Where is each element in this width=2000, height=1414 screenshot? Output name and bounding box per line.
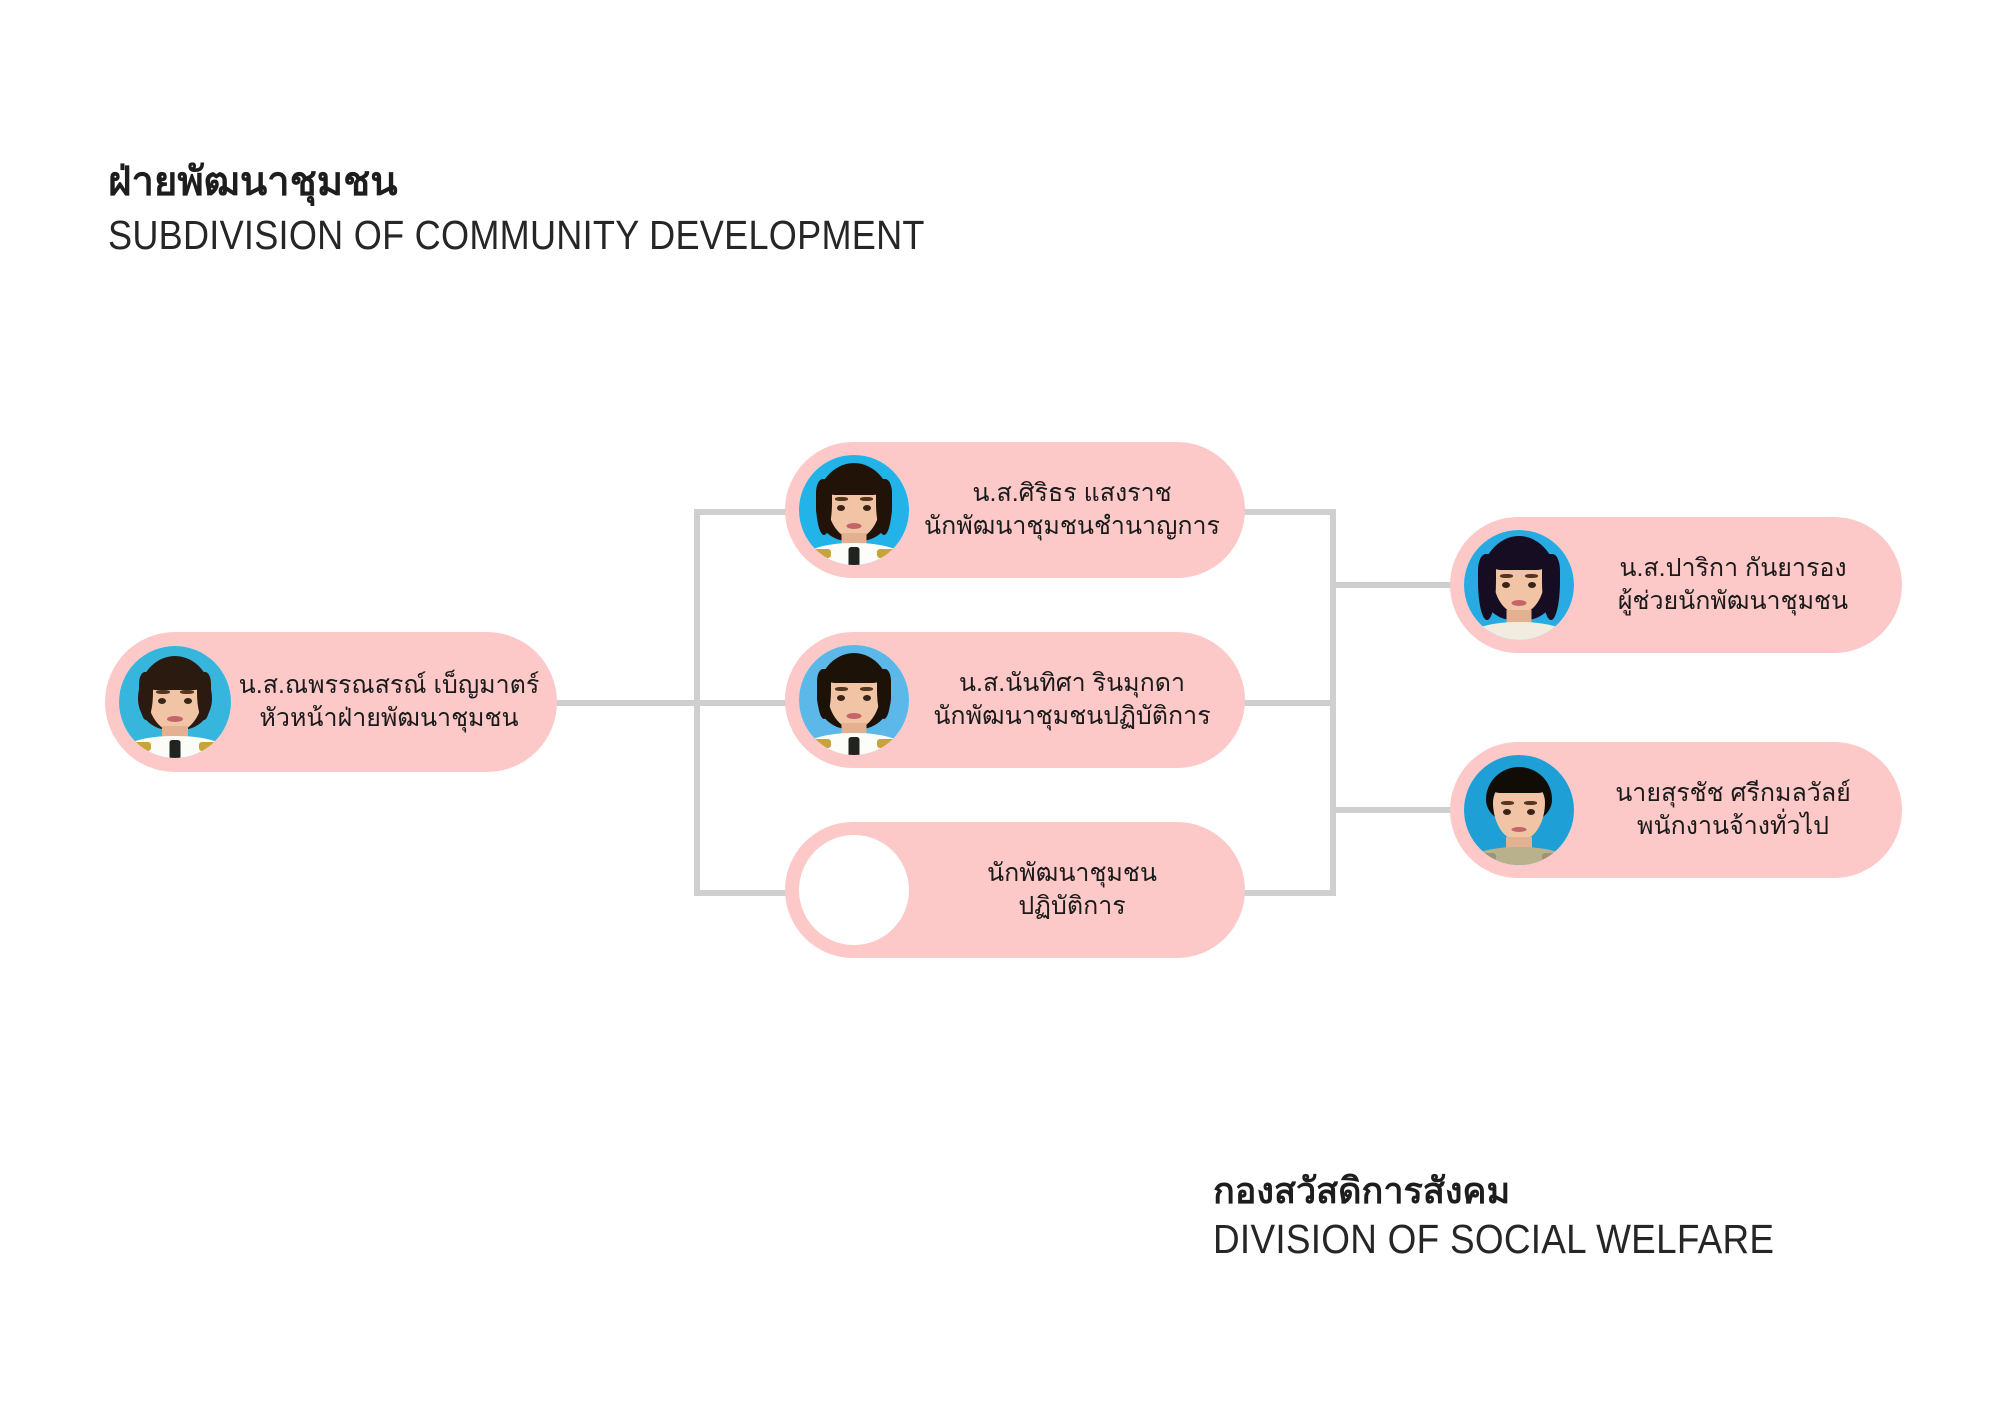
connector-right-trunk-to-staff-4: [1330, 582, 1452, 588]
org-node-staff-4-role: ผู้ช่วยนักพัฒนาชุมชน: [1578, 585, 1888, 619]
org-node-staff-5-role: พนักงานจ้างทั่วไป: [1578, 810, 1888, 844]
org-node-staff-4-text: น.ส.ปาริกา กันยารอง ผู้ช่วยนักพัฒนาชุมชน: [1574, 552, 1902, 619]
connector-staff-2-to-right-trunk: [1240, 700, 1336, 706]
org-node-staff-3-role: นักพัฒนาชุมชน: [913, 857, 1231, 891]
org-node-head-role: หัวหน้าฝ่ายพัฒนาชุมชน: [235, 702, 543, 736]
org-node-head-text: น.ส.ณพรรณสรณ์ เบ็ญมาตร์ หัวหน้าฝ่ายพัฒนา…: [231, 669, 557, 736]
org-node-staff-1-text: น.ส.ศิริธร แสงราช นักพัฒนาชุมชนชำนาญการ: [909, 477, 1245, 544]
avatar-staff-3-vacant: [799, 835, 909, 945]
footer-title-english: DIVISION OF SOCIAL WELFARE: [1213, 1215, 1897, 1263]
org-node-staff-1[interactable]: น.ส.ศิริธร แสงราช นักพัฒนาชุมชนชำนาญการ: [785, 442, 1245, 578]
page-footer: กองสวัสดิการสังคม DIVISION OF SOCIAL WEL…: [1213, 1170, 1973, 1264]
connector-right-trunk-to-staff-5: [1330, 807, 1452, 813]
connector-head-to-trunk: [552, 700, 700, 706]
header-title-thai: ฝ่ายพัฒนาชุมชน: [108, 160, 1308, 205]
org-node-head-name: น.ส.ณพรรณสรณ์ เบ็ญมาตร์: [235, 669, 543, 703]
connector-staff-1-to-right-trunk: [1240, 509, 1336, 515]
org-chart-canvas: ฝ่ายพัฒนาชุมชน SUBDIVISION OF COMMUNITY …: [0, 0, 2000, 1414]
org-node-staff-3-text: นักพัฒนาชุมชน ปฏิบัติการ: [909, 857, 1245, 924]
org-node-staff-2-role: นักพัฒนาชุมชนปฏิบัติการ: [913, 700, 1231, 734]
connector-trunk-to-staff-2: [694, 700, 790, 706]
page-header: ฝ่ายพัฒนาชุมชน SUBDIVISION OF COMMUNITY …: [108, 160, 1308, 259]
org-node-staff-5[interactable]: นายสุรชัช ศรีกมลวัลย์ พนักงานจ้างทั่วไป: [1450, 742, 1902, 878]
avatar-staff-2: [799, 645, 909, 755]
avatar-head: [119, 646, 231, 758]
header-title-english: SUBDIVISION OF COMMUNITY DEVELOPMENT: [108, 211, 1164, 259]
org-node-staff-3[interactable]: นักพัฒนาชุมชน ปฏิบัติการ: [785, 822, 1245, 958]
org-node-staff-2[interactable]: น.ส.นันทิศา รินมุกดา นักพัฒนาชุมชนปฏิบัต…: [785, 632, 1245, 768]
avatar-staff-4: [1464, 530, 1574, 640]
org-node-head[interactable]: น.ส.ณพรรณสรณ์ เบ็ญมาตร์ หัวหน้าฝ่ายพัฒนา…: [105, 632, 557, 772]
org-node-staff-5-text: นายสุรชัช ศรีกมลวัลย์ พนักงานจ้างทั่วไป: [1574, 777, 1902, 844]
org-node-staff-2-name: น.ส.นันทิศา รินมุกดา: [913, 667, 1231, 701]
connector-trunk-right: [1330, 509, 1336, 896]
footer-title-thai: กองสวัสดิการสังคม: [1213, 1170, 1973, 1211]
org-node-staff-2-text: น.ส.นันทิศา รินมุกดา นักพัฒนาชุมชนปฏิบัต…: [909, 667, 1245, 734]
org-node-staff-1-name: น.ส.ศิริธร แสงราช: [913, 477, 1231, 511]
connector-staff-3-to-right-trunk: [1240, 890, 1336, 896]
org-node-staff-4-name: น.ส.ปาริกา กันยารอง: [1578, 552, 1888, 586]
org-node-staff-1-role: นักพัฒนาชุมชนชำนาญการ: [913, 510, 1231, 544]
connector-trunk-to-staff-1: [694, 509, 790, 515]
org-node-staff-4[interactable]: น.ส.ปาริกา กันยารอง ผู้ช่วยนักพัฒนาชุมชน: [1450, 517, 1902, 653]
connector-trunk-to-staff-3: [694, 890, 790, 896]
org-node-staff-3-role-line2: ปฏิบัติการ: [913, 890, 1231, 924]
org-node-staff-5-name: นายสุรชัช ศรีกมลวัลย์: [1578, 777, 1888, 811]
avatar-staff-1: [799, 455, 909, 565]
avatar-staff-5: [1464, 755, 1574, 865]
